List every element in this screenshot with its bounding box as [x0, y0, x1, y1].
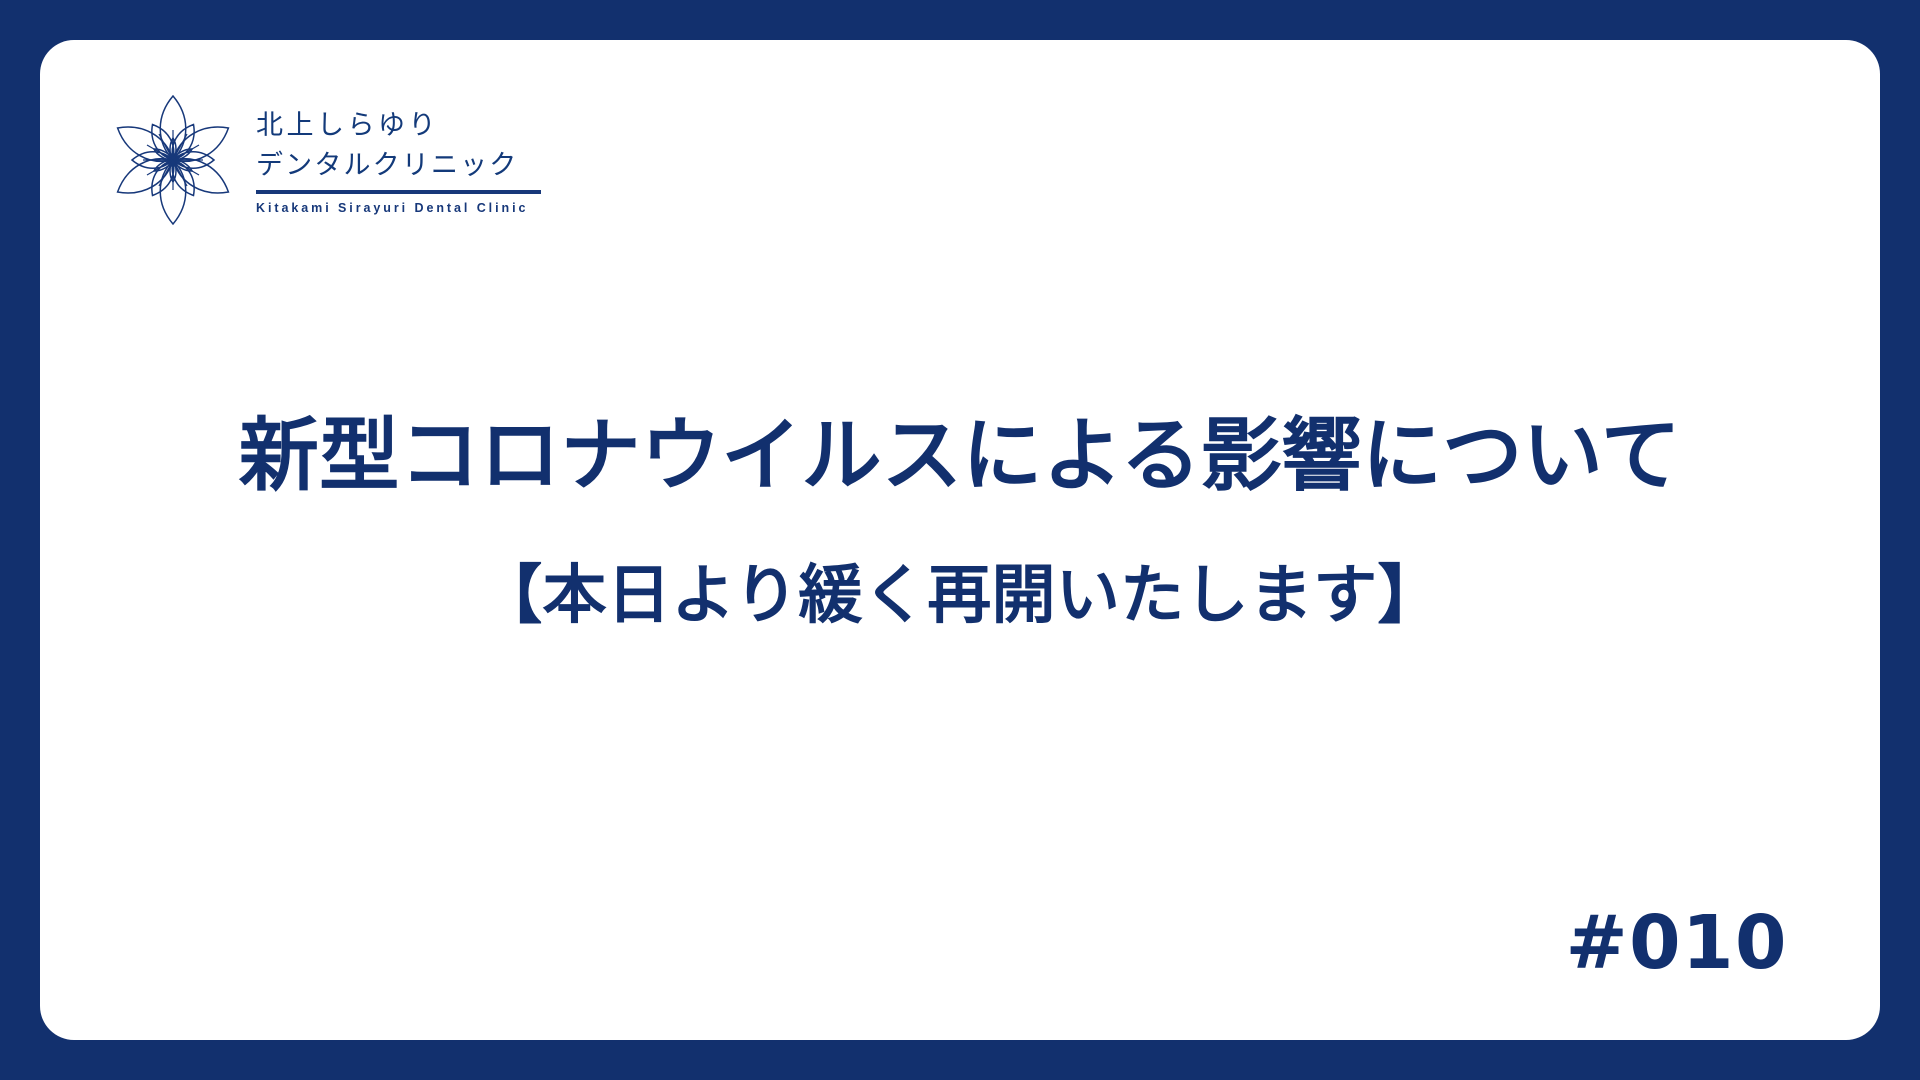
slide-frame: 北上しらゆり デンタルクリニック Kitakami Sirayuri Denta…: [0, 0, 1920, 1080]
clinic-name-english: Kitakami Sirayuri Dental Clinic: [256, 201, 541, 215]
clinic-name-line1: 北上しらゆり: [256, 108, 541, 144]
clinic-name-line2: デンタルクリニック: [256, 148, 541, 184]
page-subtitle: 【本日より緩く再開いたします】: [40, 559, 1880, 633]
lily-flower-icon: [108, 88, 238, 228]
logo-wordmark: 北上しらゆり デンタルクリニック Kitakami Sirayuri Denta…: [256, 88, 541, 215]
slide-card: 北上しらゆり デンタルクリニック Kitakami Sirayuri Denta…: [40, 40, 1880, 1040]
headline-block: 新型コロナウイルスによる影響について 【本日より緩く再開いたします】: [40, 410, 1880, 633]
episode-number: #010: [1566, 906, 1788, 980]
clinic-logo: 北上しらゆり デンタルクリニック Kitakami Sirayuri Denta…: [108, 88, 541, 228]
logo-divider: [256, 190, 541, 194]
page-title: 新型コロナウイルスによる影響について: [40, 410, 1880, 503]
